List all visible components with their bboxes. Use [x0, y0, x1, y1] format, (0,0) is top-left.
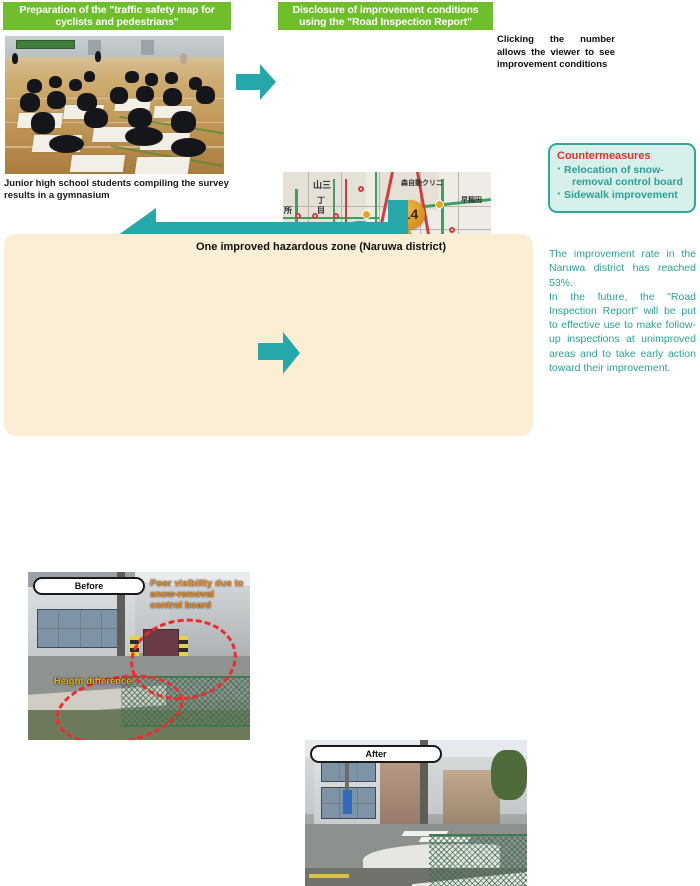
countermeasures-title: Countermeasures: [557, 150, 688, 163]
map-label: 早稲田: [461, 195, 482, 205]
after-fence: [429, 834, 527, 886]
left-section-header-text: Preparation of the "traffic safety map f…: [6, 4, 228, 29]
clicking-number-note-text: Clicking the number allows the viewer to…: [497, 34, 615, 70]
before-window-grid: [37, 609, 123, 648]
map-label: 山三: [313, 178, 331, 191]
improvement-summary-text: The improvement rate in the Naruwa distr…: [549, 233, 696, 375]
survey-paper: [70, 155, 125, 172]
map-small-pin: [435, 200, 444, 209]
before-label-pill: Before: [33, 577, 145, 595]
student: [163, 88, 183, 106]
map-node: [449, 227, 455, 233]
student: [171, 111, 195, 133]
student: [47, 91, 67, 109]
student: [145, 73, 158, 85]
survey-paper: [135, 157, 190, 174]
after-building-mid: [380, 760, 420, 827]
improved-zone-panel-title-text: One improved hazardous zone (Naruwa dist…: [196, 241, 446, 253]
student: [84, 108, 108, 129]
gymnasium-photo-caption: Junior high school students compiling th…: [4, 178, 244, 201]
arrow-before-to-after-icon: [256, 330, 302, 376]
student: [27, 79, 42, 93]
student: [136, 86, 154, 103]
student: [180, 53, 187, 64]
improved-zone-panel-title: One improved hazardous zone (Naruwa dist…: [196, 241, 446, 253]
countermeasure-item-1-cont: removal control board: [557, 176, 688, 188]
height-difference-annotation: Height difference: [54, 676, 174, 687]
poor-visibility-annotation: Poor visibility due to snow-removal cont…: [150, 578, 246, 611]
after-blue-sign: [343, 790, 352, 814]
after-label-text: After: [365, 749, 386, 759]
student: [69, 79, 82, 91]
student: [84, 71, 95, 82]
after-tree: [491, 750, 527, 800]
before-photo: Before Poor visibility due to snow-remov…: [28, 572, 250, 740]
height-difference-annotation-text: Height difference: [54, 676, 132, 687]
student: [31, 112, 55, 134]
student: [20, 93, 40, 112]
after-yellow-line: [309, 874, 349, 877]
student: [196, 86, 216, 104]
arrow-left-to-map-icon: [234, 62, 278, 106]
gym-banner: [16, 40, 75, 49]
student: [165, 72, 178, 84]
countermeasure-item-2: Sidewalk improvement: [557, 189, 688, 201]
improvement-summary-body: The improvement rate in the Naruwa distr…: [549, 248, 696, 374]
middle-section-header-text: Disclosure of improvement conditions usi…: [281, 4, 490, 29]
student: [95, 51, 102, 62]
clicking-number-note: Clicking the number allows the viewer to…: [497, 34, 615, 72]
map-node: [358, 186, 364, 192]
student: [128, 108, 152, 129]
countermeasures-box: Countermeasures Relocation of snow- remo…: [548, 143, 696, 213]
left-section-header: Preparation of the "traffic safety map f…: [3, 2, 231, 30]
countermeasure-item-1: Relocation of snow-: [557, 164, 688, 176]
map-label: 森自動クリニ: [401, 178, 443, 188]
middle-section-header: Disclosure of improvement conditions usi…: [278, 2, 493, 30]
poor-visibility-annotation-text: Poor visibility due to snow-removal cont…: [150, 578, 243, 611]
student: [125, 71, 138, 83]
student: [49, 76, 62, 88]
student: [110, 87, 128, 104]
before-label-text: Before: [75, 581, 104, 591]
student: [171, 138, 206, 157]
gymnasium-caption-text: Junior high school students compiling th…: [4, 178, 229, 201]
gym-door-right: [141, 40, 154, 55]
after-label-pill: After: [310, 745, 442, 763]
gymnasium-photo: [5, 36, 224, 174]
student: [12, 53, 19, 64]
student: [125, 127, 162, 146]
after-photo: After: [305, 740, 527, 886]
